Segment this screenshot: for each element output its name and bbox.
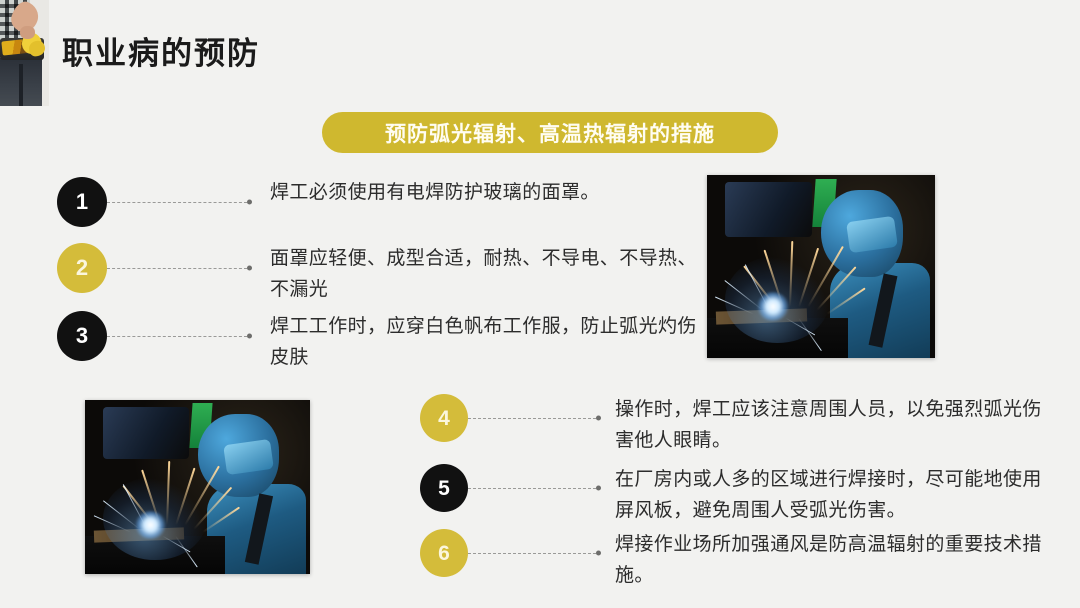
bullet-connector-dot-3 bbox=[247, 334, 252, 339]
bullet-text-2: 面罩应轻便、成型合适，耐热、不导电、不导热、不漏光 bbox=[270, 243, 710, 305]
bullet-number-4: 4 bbox=[438, 408, 450, 429]
bullet-badge-4: 4 bbox=[420, 394, 468, 442]
machine-shape bbox=[103, 407, 189, 459]
helmet-visor-shape bbox=[846, 216, 898, 253]
bullet-connector-dot-5 bbox=[596, 486, 601, 491]
bullet-number-5: 5 bbox=[438, 478, 450, 499]
machine-shape bbox=[725, 182, 812, 237]
bullet-text-5: 在厂房内或人多的区域进行焊接时，尽可能地使用屏风板，避免周围人受弧光伤害。 bbox=[615, 464, 1053, 526]
bullet-number-6: 6 bbox=[438, 543, 450, 564]
bullet-text-3: 焊工工作时，应穿白色帆布工作服，防止弧光灼伤皮肤 bbox=[270, 311, 710, 373]
arc-flash-shape bbox=[135, 511, 167, 539]
bullet-text-1: 焊工必须使用有电焊防护玻璃的面罩。 bbox=[270, 177, 710, 208]
bullet-connector-3 bbox=[107, 336, 247, 338]
bullet-connector-dot-4 bbox=[596, 416, 601, 421]
bullet-connector-5 bbox=[468, 488, 596, 490]
bullet-badge-2: 2 bbox=[57, 243, 107, 293]
bullet-number-1: 1 bbox=[76, 191, 88, 213]
bullet-row-2: 2 面罩应轻便、成型合适，耐热、不导电、不导热、不漏光 bbox=[57, 243, 710, 305]
bullet-row-3: 3 焊工工作时，应穿白色帆布工作服，防止弧光灼伤皮肤 bbox=[57, 311, 710, 373]
hand-shape bbox=[20, 26, 35, 39]
bullet-badge-1: 1 bbox=[57, 177, 107, 227]
worker-with-tool-belt-photo bbox=[0, 0, 49, 106]
bullet-text-4: 操作时，焊工应该注意周围人员，以免强烈弧光伤害他人眼睛。 bbox=[615, 394, 1053, 456]
bullet-badge-3: 3 bbox=[57, 311, 107, 361]
slide-canvas: 职业病的预防 预防弧光辐射、高温热辐射的措施 1 焊工必须使用有电焊防护玻璃的面… bbox=[0, 0, 1080, 608]
bullet-badge-6: 6 bbox=[420, 529, 468, 577]
page-title: 职业病的预防 bbox=[62, 38, 260, 69]
bullet-number-2: 2 bbox=[76, 257, 88, 279]
bullet-connector-dot-6 bbox=[596, 551, 601, 556]
bullet-connector-dot-2 bbox=[247, 266, 252, 271]
leg-gap-shape bbox=[19, 64, 23, 106]
welder-sparks-photo-bottom bbox=[85, 400, 310, 574]
bullet-connector-4 bbox=[468, 418, 596, 420]
bullet-row-4: 4 操作时，焊工应该注意周围人员，以免强烈弧光伤害他人眼睛。 bbox=[420, 394, 1053, 456]
helmet-visor-shape bbox=[223, 439, 274, 475]
bullet-connector-dot-1 bbox=[247, 200, 252, 205]
bullet-connector-2 bbox=[107, 268, 247, 270]
section-banner: 预防弧光辐射、高温热辐射的措施 bbox=[322, 112, 778, 153]
bullet-number-3: 3 bbox=[76, 325, 88, 347]
bullet-row-1: 1 焊工必须使用有电焊防护玻璃的面罩。 bbox=[57, 177, 710, 227]
bullet-badge-5: 5 bbox=[420, 464, 468, 512]
welder-sparks-photo-top bbox=[707, 175, 935, 358]
bullet-connector-6 bbox=[468, 553, 596, 555]
bullet-connector-1 bbox=[107, 202, 247, 204]
section-banner-label: 预防弧光辐射、高温热辐射的措施 bbox=[385, 118, 715, 148]
bullet-row-6: 6 焊接作业场所加强通风是防高温辐射的重要技术措施。 bbox=[420, 529, 1053, 591]
bullet-text-6: 焊接作业场所加强通风是防高温辐射的重要技术措施。 bbox=[615, 529, 1053, 591]
bullet-row-5: 5 在厂房内或人多的区域进行焊接时，尽可能地使用屏风板，避免周围人受弧光伤害。 bbox=[420, 464, 1053, 526]
